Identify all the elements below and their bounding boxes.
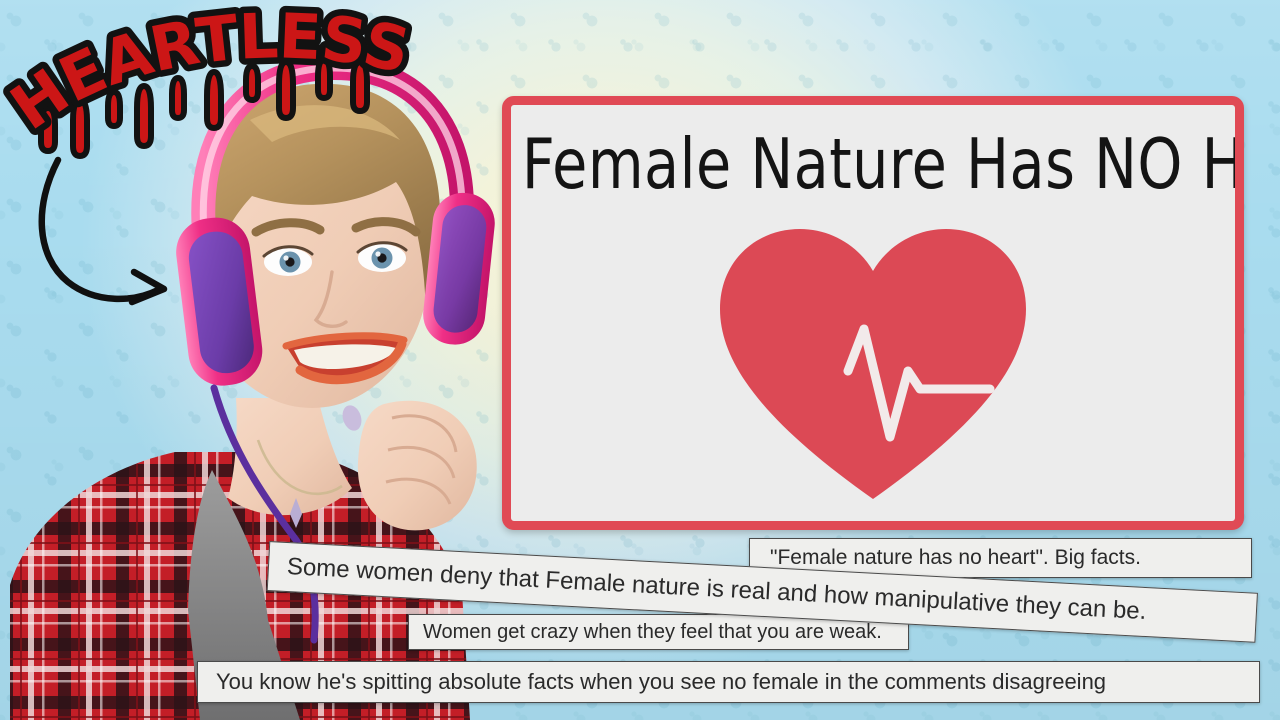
arrow-head — [132, 272, 164, 302]
title-card: Female Nature Has NO Heart — [502, 96, 1244, 530]
thumbnail-canvas: Female Nature Has NO Heart — [0, 0, 1280, 720]
fingernail — [339, 403, 364, 433]
curved-arrow-pointing-to-headphones — [30, 150, 210, 320]
heart-with-flatline-ekg-icon — [708, 213, 1038, 513]
eye-right — [358, 243, 406, 272]
eye-left — [264, 247, 312, 276]
heart-graphic — [511, 213, 1235, 513]
comment-strip-facts[interactable]: You know he's spitting absolute facts wh… — [197, 661, 1260, 703]
neck — [228, 398, 352, 515]
hand-on-chin — [358, 401, 477, 531]
page-title: Female Nature Has NO Heart — [522, 123, 1224, 204]
heartless-badge: HEARTLESS HEARTLESS HEARTLESS — [18, 30, 398, 160]
